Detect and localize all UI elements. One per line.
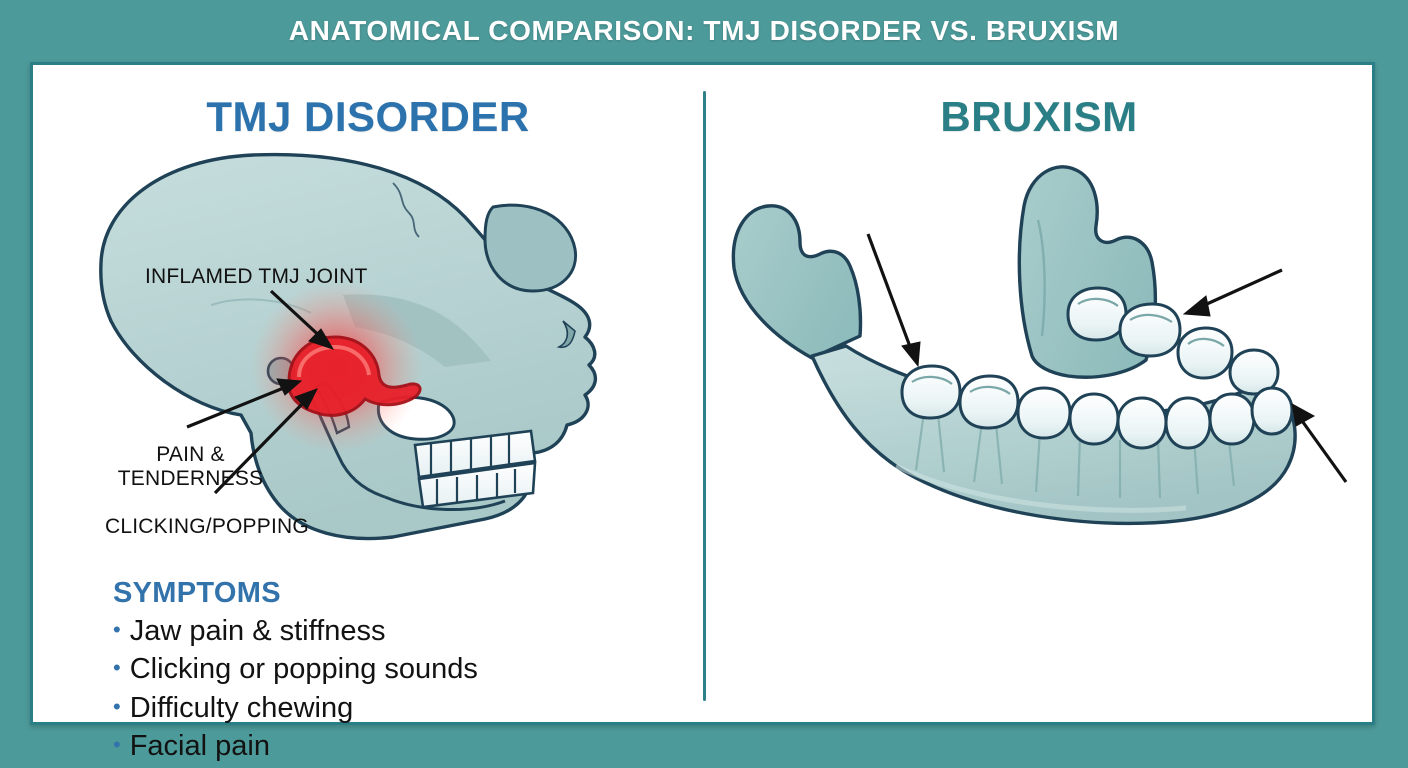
panel-bruxism: BRUXISM: [706, 65, 1372, 722]
mandible-illustration: [716, 160, 1356, 560]
panel-heading-tmj-disorder: TMJ DISORDER: [33, 93, 703, 141]
mandible-left-ramus: [733, 206, 860, 358]
symptoms-block-tmj: SYMPTOMS • Jaw pain & stiffness • Clicki…: [113, 577, 478, 765]
panel-heading-bruxism: BRUXISM: [706, 93, 1372, 141]
list-item: • Facial pain: [113, 727, 478, 765]
list-item: • Clicking or popping sounds: [113, 650, 478, 688]
list-item-label: Jaw pain & stiffness: [130, 612, 386, 650]
symptoms-heading-tmj: SYMPTOMS: [113, 577, 478, 610]
panel-tmj-disorder: TMJ DISORDER: [33, 65, 703, 722]
callout-clicking-popping: CLICKING/POPPING: [105, 515, 309, 539]
comparison-card: TMJ DISORDER: [30, 62, 1375, 725]
page-title: ANATOMICAL COMPARISON: TMJ DISORDER VS. …: [289, 15, 1119, 47]
callout-inflamed-tmj-joint: INFLAMED TMJ JOINT: [145, 265, 368, 289]
list-item-label: Difficulty chewing: [130, 689, 354, 727]
bullet-icon: •: [113, 619, 121, 641]
list-item-label: Clicking or popping sounds: [130, 650, 478, 688]
bullet-icon: •: [113, 734, 121, 756]
list-item: • Difficulty chewing: [113, 689, 478, 727]
orbit-eye-socket: [485, 205, 576, 291]
symptoms-list-tmj: • Jaw pain & stiffness • Clicking or pop…: [113, 612, 478, 765]
list-item: • Jaw pain & stiffness: [113, 612, 478, 650]
bullet-icon: •: [113, 696, 121, 718]
callout-pain-and-tenderness: PAIN & TENDERNESS: [98, 443, 283, 490]
list-item-label: Facial pain: [130, 727, 270, 765]
title-banner: ANATOMICAL COMPARISON: TMJ DISORDER VS. …: [0, 0, 1408, 62]
bullet-icon: •: [113, 657, 121, 679]
